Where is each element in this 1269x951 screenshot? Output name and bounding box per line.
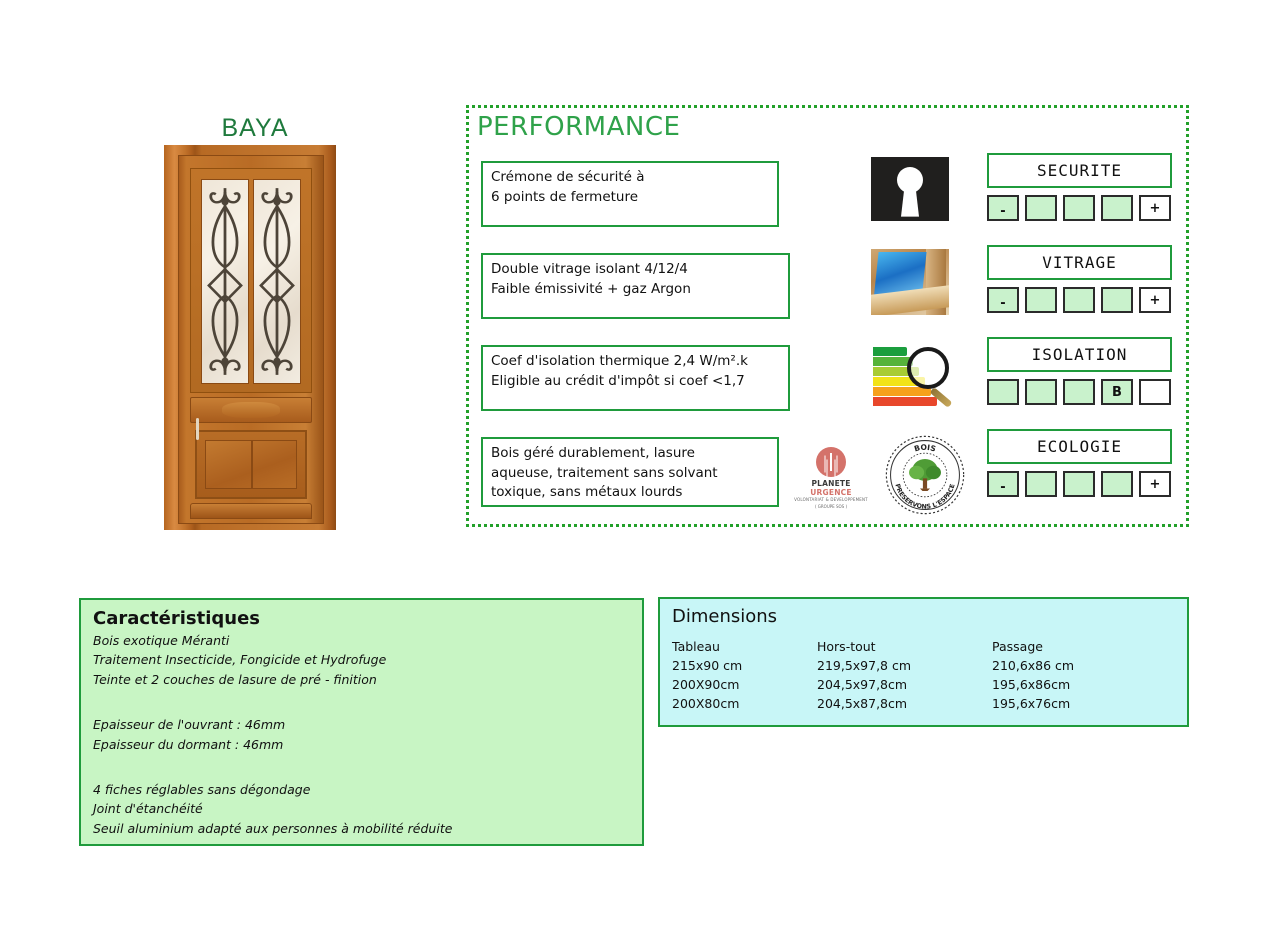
- performance-panel: PERFORMANCE Crémone de sécurité à 6 poin…: [466, 105, 1189, 527]
- feature-line: Eligible au crédit d'impôt si coef <1,7: [491, 372, 780, 392]
- feature-line: Coef d'isolation thermique 2,4 W/m².k: [491, 352, 780, 372]
- planete-urgence-tree-icon: [816, 447, 846, 477]
- rating-box[interactable]: [1025, 195, 1057, 221]
- caracteristiques-line: Bois exotique Méranti: [93, 631, 630, 650]
- rating-group-vitrage: VITRAGE - +: [987, 245, 1177, 313]
- dimensions-title: Dimensions: [672, 606, 1175, 627]
- rating-group-isolation: ISOLATION B: [987, 337, 1177, 405]
- planete-urgence-logo: PLANETE URGENCE VOLONTARIAT & DEVELOPPEM…: [791, 447, 871, 509]
- rating-glyph: +: [1150, 294, 1161, 307]
- caracteristiques-line: 4 fiches réglables sans dégondage: [93, 780, 630, 799]
- door-leaf: [178, 155, 324, 524]
- column-header: Hors-tout: [817, 639, 992, 658]
- performance-row-ecologie: Bois géré durablement, lasure aqueuse, t…: [469, 429, 1186, 521]
- magnifier-icon: [907, 347, 949, 389]
- rating-glyph: -: [1000, 205, 1005, 218]
- energy-label-icon: [871, 343, 955, 409]
- feature-line: Crémone de sécurité à: [491, 168, 769, 188]
- table-cell: 215x90 cm: [672, 658, 817, 677]
- dimensions-table: Tableau Hors-tout Passage 215x90 cm 219,…: [672, 639, 1175, 715]
- table-header-row: Tableau Hors-tout Passage: [672, 639, 1175, 658]
- keyhole-icon: [871, 157, 949, 221]
- rating-box[interactable]: -: [987, 471, 1019, 497]
- caracteristiques-line: Epaisseur du dormant : 46mm: [93, 735, 630, 754]
- bois-certification-logo: BOIS PRESERVONS L'ESPACE: [883, 433, 967, 517]
- feature-line: Faible émissivité + gaz Argon: [491, 280, 780, 300]
- rating-glyph: +: [1150, 478, 1161, 491]
- caracteristiques-panel: Caractéristiques Bois exotique Méranti T…: [79, 598, 644, 846]
- ironwork-scroll-icon: [202, 180, 248, 383]
- rating-label-isolation: ISOLATION: [987, 337, 1172, 372]
- rating-glyph: +: [1150, 202, 1161, 215]
- rating-label-vitrage: VITRAGE: [987, 245, 1172, 280]
- caracteristiques-title: Caractéristiques: [93, 608, 630, 629]
- table-cell: 195,6x76cm: [992, 696, 1175, 715]
- table-row: 200X90cm 204,5x97,8cm 195,6x86cm: [672, 677, 1175, 696]
- table-cell: 200X90cm: [672, 677, 817, 696]
- table-cell: 204,5x87,8cm: [817, 696, 992, 715]
- rating-box[interactable]: -: [987, 195, 1019, 221]
- door-glass-panel-left: [201, 179, 249, 384]
- table-cell: 219,5x97,8 cm: [817, 658, 992, 677]
- feature-line: Bois géré durablement, lasure: [491, 444, 769, 464]
- planete-urgence-group: ( GROUPE SOS ): [791, 504, 871, 509]
- eco-logos: PLANETE URGENCE VOLONTARIAT & DEVELOPPEM…: [791, 433, 971, 517]
- feature-line: toxique, sans métaux lourds: [491, 483, 769, 503]
- rating-box-selected[interactable]: B: [1101, 379, 1133, 405]
- door-lower-panel: [195, 430, 307, 499]
- planete-urgence-subtitle: VOLONTARIAT & DEVELOPPEMENT: [791, 497, 871, 502]
- feature-text-vitrage: Double vitrage isolant 4/12/4 Faible émi…: [481, 253, 790, 319]
- feature-text-isolation: Coef d'isolation thermique 2,4 W/m².k El…: [481, 345, 790, 411]
- door-glazed-section: [190, 168, 312, 393]
- rating-box[interactable]: [1025, 471, 1057, 497]
- rating-box[interactable]: -: [987, 287, 1019, 313]
- feature-line: aqueuse, traitement sans solvant: [491, 464, 769, 484]
- door-glass-panel-right: [253, 179, 301, 384]
- caracteristiques-line: Seuil aluminium adapté aux personnes à m…: [93, 819, 630, 838]
- feature-text-ecologie: Bois géré durablement, lasure aqueuse, t…: [481, 437, 779, 507]
- energy-bar: [873, 347, 907, 356]
- door-panel-inset: [205, 440, 297, 489]
- caracteristiques-line: Teinte et 2 couches de lasure de pré - f…: [93, 670, 630, 689]
- window-glazing-icon: [871, 249, 949, 315]
- column-header: Passage: [992, 639, 1175, 658]
- rating-glyph: -: [1000, 297, 1005, 310]
- spacer: [93, 689, 630, 715]
- rating-boxes-ecologie: - +: [987, 471, 1177, 497]
- dimensions-panel: Dimensions Tableau Hors-tout Passage 215…: [658, 597, 1189, 727]
- keyhole-glyph: [871, 157, 949, 221]
- rating-boxes-securite: - +: [987, 195, 1177, 221]
- table-cell: 195,6x86cm: [992, 677, 1175, 696]
- performance-row-vitrage: Double vitrage isolant 4/12/4 Faible émi…: [469, 245, 1186, 337]
- performance-title: PERFORMANCE: [477, 112, 680, 142]
- rating-box[interactable]: [1139, 379, 1171, 405]
- rating-box[interactable]: [1063, 195, 1095, 221]
- rating-group-securite: SECURITE - +: [987, 153, 1177, 221]
- rating-label-securite: SECURITE: [987, 153, 1172, 188]
- caracteristiques-line: Epaisseur de l'ouvrant : 46mm: [93, 715, 630, 734]
- rating-glyph: -: [1000, 481, 1005, 494]
- rating-box[interactable]: [1101, 471, 1133, 497]
- spacer: [93, 754, 630, 780]
- table-cell: 210,6x86 cm: [992, 658, 1175, 677]
- column-header: Tableau: [672, 639, 817, 658]
- feature-text-securite: Crémone de sécurité à 6 points de fermet…: [481, 161, 779, 227]
- rating-box[interactable]: [987, 379, 1019, 405]
- feature-line: Double vitrage isolant 4/12/4: [491, 260, 780, 280]
- rating-box[interactable]: [1025, 379, 1057, 405]
- window-glyph: [871, 249, 949, 315]
- rating-glyph: B: [1112, 386, 1122, 399]
- rating-box[interactable]: [1063, 471, 1095, 497]
- ironwork-scroll-icon: [254, 180, 300, 383]
- bois-logo-svg: BOIS PRESERVONS L'ESPACE: [883, 433, 967, 517]
- rating-label-ecologie: ECOLOGIE: [987, 429, 1172, 464]
- pu-name-part2: URGENCE: [810, 488, 851, 497]
- door-product-image: [164, 145, 336, 530]
- rating-box[interactable]: [1101, 287, 1133, 313]
- feature-line: 6 points de fermeture: [491, 188, 769, 208]
- planete-urgence-name: PLANETE URGENCE: [791, 479, 871, 497]
- rating-boxes-isolation: B: [987, 379, 1177, 405]
- table-cell: 204,5x97,8cm: [817, 677, 992, 696]
- rating-box[interactable]: [1063, 287, 1095, 313]
- rating-box[interactable]: [1063, 379, 1095, 405]
- page-title: BAYA: [150, 114, 360, 143]
- energy-bar: [873, 397, 937, 406]
- door-bottom-rail: [190, 503, 312, 519]
- energy-glyph: [871, 343, 955, 409]
- caracteristiques-line: Traitement Insecticide, Fongicide et Hyd…: [93, 650, 630, 669]
- door-handle-icon: [196, 418, 199, 440]
- table-cell: 200X80cm: [672, 696, 817, 715]
- rating-box[interactable]: +: [1139, 287, 1171, 313]
- performance-row-isolation: Coef d'isolation thermique 2,4 W/m².k El…: [469, 337, 1186, 429]
- table-row: 215x90 cm 219,5x97,8 cm 210,6x86 cm: [672, 658, 1175, 677]
- caracteristiques-line: Joint d'étanchéité: [93, 799, 630, 818]
- pu-name-part1: PLANETE: [811, 479, 850, 488]
- door-mid-rail: [190, 397, 312, 423]
- table-row: 200X80cm 204,5x87,8cm 195,6x76cm: [672, 696, 1175, 715]
- rating-box[interactable]: [1101, 195, 1133, 221]
- rating-box[interactable]: +: [1139, 195, 1171, 221]
- rating-box[interactable]: [1025, 287, 1057, 313]
- svg-text:BOIS: BOIS: [913, 443, 937, 454]
- rating-boxes-vitrage: - +: [987, 287, 1177, 313]
- rating-box[interactable]: +: [1139, 471, 1171, 497]
- rating-group-ecologie: ECOLOGIE - +: [987, 429, 1177, 497]
- performance-row-securite: Crémone de sécurité à 6 points de fermet…: [469, 153, 1186, 245]
